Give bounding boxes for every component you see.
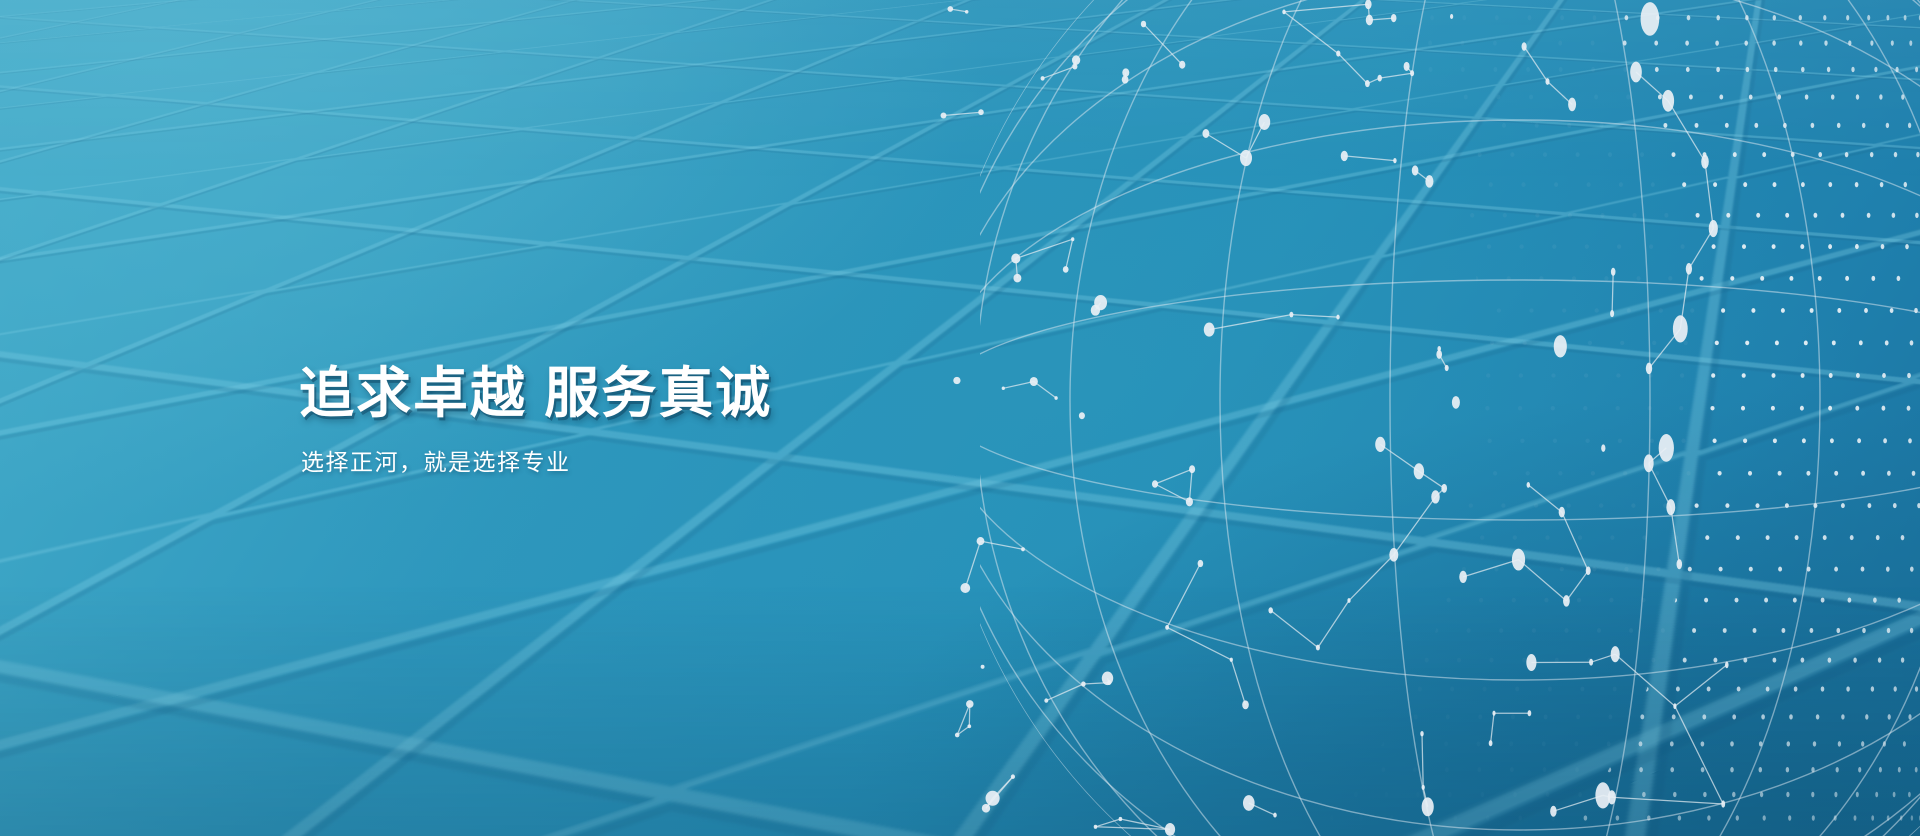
hero-copy: 追求卓越 服务真诚 选择正河，就是选择专业 xyxy=(299,362,1059,478)
hero-banner: 追求卓越 服务真诚 选择正河，就是选择专业 xyxy=(0,0,1920,836)
page-subtitle: 选择正河，就是选择专业 xyxy=(301,448,1059,478)
page-title: 追求卓越 服务真诚 xyxy=(299,362,1059,426)
